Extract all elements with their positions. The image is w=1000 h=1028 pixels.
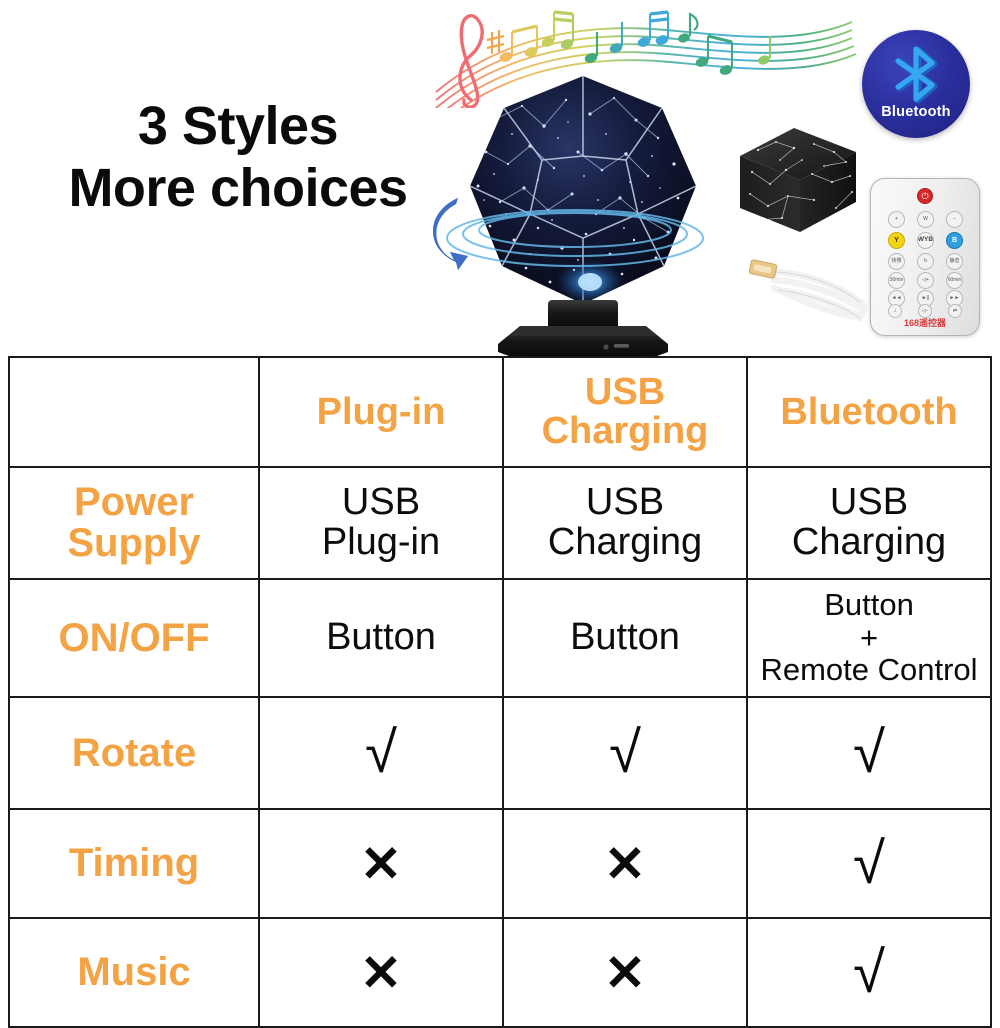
remote-timer-60min-button[interactable]: 60min: [946, 272, 963, 289]
cross-icon: ✕: [360, 839, 402, 889]
remote-yellow-button[interactable]: Y: [888, 232, 905, 249]
feature-comparison-table: Plug-in USB Charging Bluetooth Power Sup…: [8, 356, 992, 1028]
cell-on-off-usb: Button: [503, 579, 747, 697]
remote-mute-button[interactable]: 静音: [946, 253, 963, 270]
cell-rotate-bluetooth: √: [747, 697, 991, 809]
row-header-timing-label: Timing: [69, 841, 199, 885]
row-header-rotate: Rotate: [9, 697, 259, 809]
bluetooth-badge-label: Bluetooth: [862, 104, 970, 120]
row-header-timing: Timing: [9, 809, 259, 918]
table-row: Timing ✕ ✕ √: [9, 809, 991, 918]
remote-power-button[interactable]: ⏻: [917, 188, 933, 204]
cell-music-bluetooth: √: [747, 918, 991, 1027]
cell-on-off-plugin: Button: [259, 579, 503, 697]
column-header-plugin-label: Plug-in: [317, 391, 446, 433]
remote-rotate-button[interactable]: ↻: [917, 253, 934, 270]
row-header-rotate-label: Rotate: [72, 731, 196, 775]
remote-white-button[interactable]: W: [917, 211, 934, 228]
remote-minus-button[interactable]: −: [946, 211, 963, 228]
column-header-usb-charging-label: USB Charging: [542, 371, 709, 452]
cell-rotate-plugin: √: [259, 697, 503, 809]
cell-timing-bluetooth: √: [747, 809, 991, 918]
cross-icon: ✕: [360, 948, 402, 998]
constellation-gift-box: [736, 126, 860, 238]
remote-volume-up-button[interactable]: ◁+: [917, 272, 934, 289]
column-header-usb-charging: USB Charging: [503, 357, 747, 467]
column-header-plugin: Plug-in: [259, 357, 503, 467]
table-row: ON/OFF Button Button Button + Remote Con…: [9, 579, 991, 697]
row-header-on-off-label: ON/OFF: [58, 616, 209, 660]
remote-blue-button[interactable]: B: [946, 232, 963, 249]
row-header-music-label: Music: [77, 950, 190, 994]
cell-power-supply-usb: USB Charging: [503, 467, 747, 579]
table-row: Music ✕ ✕ √: [9, 918, 991, 1027]
cell-power-supply-plugin: USB Plug-in: [259, 467, 503, 579]
table-header-row: Plug-in USB Charging Bluetooth: [9, 357, 991, 467]
cell-music-plugin: ✕: [259, 918, 503, 1027]
cell-power-supply-plugin-value: USB Plug-in: [322, 481, 440, 563]
page-title: 3 Styles More choices: [38, 96, 438, 219]
headline-line-1: 3 Styles: [38, 96, 438, 158]
cross-icon: ✕: [604, 948, 646, 998]
cell-on-off-usb-value: Button: [570, 616, 680, 658]
check-icon: √: [609, 724, 641, 782]
cross-icon: ✕: [604, 839, 646, 889]
usb-charging-cable: [744, 250, 874, 330]
cell-music-usb: ✕: [503, 918, 747, 1027]
check-icon: √: [853, 835, 885, 893]
remote-timer-30min-button[interactable]: 30min: [888, 272, 905, 289]
bluetooth-badge: Bluetooth: [862, 30, 970, 138]
bluetooth-icon: [888, 44, 944, 106]
table-row: Power Supply USB Plug-in USB Charging US…: [9, 467, 991, 579]
remote-control: ⏻ + W − Y WYB B 快慢 ↻ 静音 30min ◁+ 60min ◄…: [870, 178, 980, 336]
rotation-arrows-icon: [420, 182, 730, 292]
check-icon: √: [853, 724, 885, 782]
remote-speed-button[interactable]: 快慢: [888, 253, 905, 270]
cell-on-off-bluetooth-value: Button + Remote Control: [760, 587, 977, 688]
cell-on-off-plugin-value: Button: [326, 616, 436, 658]
hero-section: 3 Styles More choices: [0, 0, 1000, 356]
cell-on-off-bluetooth: Button + Remote Control: [747, 579, 991, 697]
cell-timing-usb: ✕: [503, 809, 747, 918]
remote-plus-button[interactable]: +: [888, 211, 905, 228]
remote-model-label: 168遥控器: [870, 316, 980, 329]
cell-power-supply-bluetooth-value: USB Charging: [792, 481, 946, 563]
check-icon: √: [365, 724, 397, 782]
cell-rotate-usb: √: [503, 697, 747, 809]
remote-wyb-button[interactable]: WYB: [917, 232, 934, 249]
cell-power-supply-usb-value: USB Charging: [548, 481, 702, 563]
column-header-bluetooth-label: Bluetooth: [780, 391, 957, 433]
row-header-power-supply-label: Power Supply: [67, 480, 200, 565]
check-icon: √: [853, 944, 885, 1002]
column-header-bluetooth: Bluetooth: [747, 357, 991, 467]
row-header-on-off: ON/OFF: [9, 579, 259, 697]
row-header-power-supply: Power Supply: [9, 467, 259, 579]
table-corner-cell: [9, 357, 259, 467]
headline-line-2: More choices: [38, 158, 438, 220]
table-row: Rotate √ √ √: [9, 697, 991, 809]
row-header-music: Music: [9, 918, 259, 1027]
cell-power-supply-bluetooth: USB Charging: [747, 467, 991, 579]
cell-timing-plugin: ✕: [259, 809, 503, 918]
